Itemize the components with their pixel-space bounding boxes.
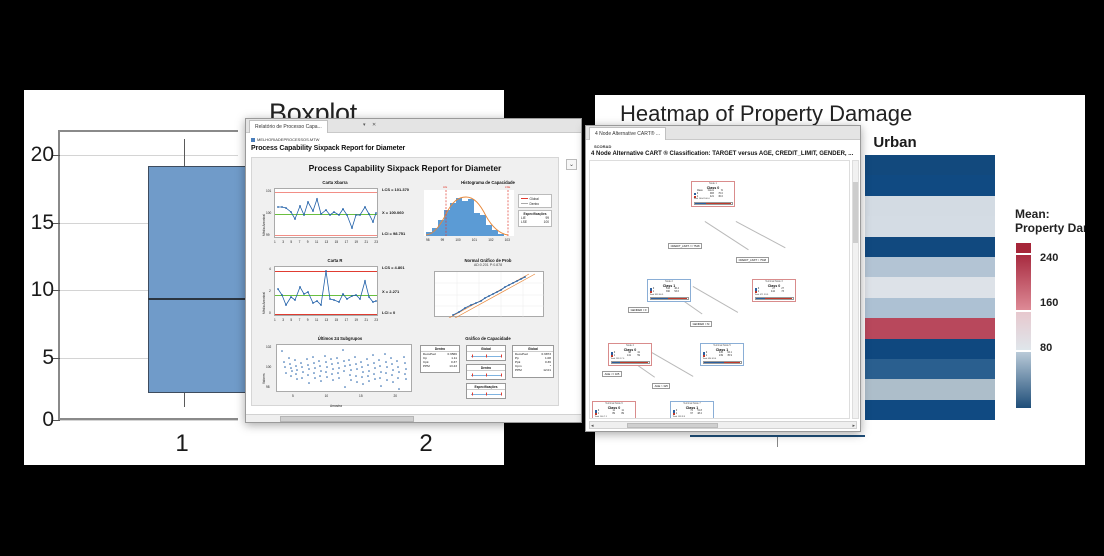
node-bar-blue bbox=[695, 203, 706, 204]
tree-edge bbox=[693, 286, 738, 312]
ylabel-subgroups: Valores bbox=[262, 373, 266, 384]
split-label-credit-limit-gt: CREDIT_LIMIT > 7548 bbox=[736, 257, 769, 263]
sixpack-chart-title: Process Capability Sixpack Report for Di… bbox=[252, 163, 558, 173]
tree-node-7[interactable]: Terminal Node 7 Class 1 0 72 51.8 1 67 bbox=[670, 401, 714, 419]
split-label-age-le: AGE <= 325 bbox=[602, 371, 622, 377]
strip-mark-left bbox=[472, 355, 473, 358]
colorbar-tick-160: 160 bbox=[1040, 297, 1058, 309]
xtick: 23 bbox=[374, 240, 378, 244]
median-line bbox=[148, 298, 258, 300]
xtick: 7 bbox=[299, 240, 301, 244]
node-bar-red bbox=[765, 298, 792, 299]
chevron-down-icon[interactable]: ▾ bbox=[363, 121, 366, 130]
spec-row-lse: LSE 100 bbox=[519, 220, 551, 224]
node-bar bbox=[755, 297, 794, 300]
xtick: 20 bbox=[393, 394, 397, 398]
node-class-label: Class 1 bbox=[673, 406, 712, 410]
node-bar-red bbox=[668, 298, 688, 299]
ytick-mark-15 bbox=[53, 223, 60, 224]
tree-node-root[interactable]: Node 1 Class 0 Class Count % 0 983 bbox=[691, 181, 735, 207]
tree-node-4[interactable]: Node 4 Class 0 0 98 41 1 141 bbox=[608, 343, 652, 366]
capability-strip-line bbox=[467, 371, 505, 379]
split-label-credit-limit-le: CREDIT_LIMIT <= 7548 bbox=[668, 243, 702, 249]
stats-box-within: Dentro DesvPad 0.9566 Cp 1.11 Cpk 0.37 bbox=[420, 345, 460, 373]
ytick-r-0: 0 bbox=[269, 311, 271, 315]
xtick: 11 bbox=[315, 240, 318, 244]
panel-subtitle-normplot: AD:0.201 P:0.878 bbox=[418, 263, 558, 267]
worksheet-file-line: MELHORIADEPROCESSOS.MTW bbox=[251, 137, 319, 142]
capability-strip-line bbox=[467, 390, 505, 398]
panel-capability-plot: Gráfico de Capacidade Dentro DesvPad 0.9… bbox=[418, 336, 558, 414]
xtick: 1 bbox=[274, 318, 276, 322]
node-bar bbox=[703, 361, 742, 364]
split-label-age-gt: AGE > 325 bbox=[652, 383, 670, 389]
heatmap-row bbox=[865, 400, 995, 420]
xtick: 10 bbox=[325, 394, 329, 398]
xticks-xbar: 1 3 5 7 9 11 13 15 17 19 21 23 bbox=[274, 240, 378, 244]
strip-mark-mid bbox=[486, 374, 487, 377]
cart-tree-canvas: Node 1 Class 0 Class Count % 0 983 bbox=[589, 160, 850, 419]
heatmap-row bbox=[865, 237, 995, 257]
cart-vertical-scrollbar[interactable] bbox=[852, 160, 859, 419]
limit-label-center-rchart: X = 2.271 bbox=[382, 289, 399, 294]
rchart-series bbox=[275, 267, 379, 317]
colorbar-segment bbox=[1016, 243, 1031, 253]
scrollbar-thumb[interactable] bbox=[280, 416, 414, 422]
chevron-left-icon[interactable]: ◂ bbox=[591, 423, 594, 429]
legend-swatch-global bbox=[521, 198, 528, 199]
limit-label-ucl-xbar: LCS = 101.370 bbox=[382, 187, 409, 192]
boxplot-chart-area: 20 15 10 5 0 bbox=[58, 130, 238, 420]
scrollbar-thumb[interactable] bbox=[627, 423, 717, 428]
node-bar-label: Total 471 33.5 bbox=[755, 294, 794, 296]
xtick: 23 bbox=[374, 318, 378, 322]
limit-label-ucl-rchart: LCS = 4.801 bbox=[382, 265, 405, 270]
legend-entry-within: Dentro bbox=[519, 201, 551, 206]
ytick-xbar-100: 100 bbox=[266, 211, 271, 215]
strip-mark-mid bbox=[486, 355, 487, 358]
tree-node-6[interactable]: Terminal Node 6 Class 0 0 11 11 1 89 bbox=[592, 401, 636, 419]
xtick: 102 bbox=[488, 238, 493, 242]
node-bar-label: Total 139 9.9 bbox=[673, 416, 712, 418]
node-bar-label: Total 694 49.4 bbox=[703, 358, 742, 360]
panel-title-xbar: Carta Xbarra bbox=[260, 180, 410, 185]
cart-horizontal-scrollbar[interactable]: ◂ ▸ bbox=[589, 421, 857, 429]
xaxis-label-1: 1 bbox=[175, 430, 188, 458]
ytick-label-15: 15 bbox=[31, 211, 54, 235]
legend-swatch-within bbox=[521, 203, 528, 204]
heatmap-row bbox=[865, 257, 995, 277]
heatmap-row bbox=[865, 339, 995, 359]
plot-histogram: LIE LSE bbox=[424, 190, 514, 236]
row-pct: 73 bbox=[776, 291, 784, 294]
node-bar-red bbox=[620, 362, 648, 363]
colorbar-segment bbox=[1016, 255, 1031, 310]
node-bar-label: Total 100 7.1 bbox=[595, 416, 634, 418]
tree-edge bbox=[736, 221, 786, 248]
node-class-label: Class 0 bbox=[611, 348, 650, 352]
xtick: 21 bbox=[364, 318, 368, 322]
heatmap-row bbox=[865, 196, 995, 216]
box-category-1 bbox=[148, 166, 258, 393]
spec-legend-box: Especificações LIE 99 LSE 100 bbox=[518, 210, 552, 227]
colorbar-segment bbox=[1016, 352, 1031, 408]
panel-normal-prob-plot: Normal Gráfico de Prob AD:0.201 P:0.878 bbox=[418, 258, 558, 332]
ytick-label-20: 20 bbox=[31, 143, 54, 167]
xtick: 13 bbox=[325, 240, 329, 244]
xtick: 21 bbox=[364, 240, 368, 244]
tree-node-5[interactable]: Terminal Node 5 Class 1 0 445 64.1 1 249 bbox=[700, 343, 744, 366]
row-pct: 59 bbox=[632, 355, 640, 358]
xtick: 15 bbox=[335, 318, 339, 322]
panel-last-subgroups: Últimos 24 Subgrupos Valores 102 100 98 bbox=[260, 336, 420, 414]
node-bar-label: Total 933 66.5 bbox=[650, 294, 689, 296]
xtick: 3 bbox=[282, 318, 284, 322]
split-label-gender-f: GENDER = F bbox=[628, 307, 649, 313]
stat-value: 12.01 bbox=[543, 368, 551, 372]
node-bar-label: Total 1404 100.0 bbox=[694, 198, 733, 200]
legend-label-within: Dentro bbox=[530, 202, 540, 206]
xtick: 1 bbox=[274, 240, 276, 244]
heatmap-title: Heatmap of Property Damage bbox=[620, 101, 912, 127]
heatmap-row bbox=[865, 175, 995, 195]
xtick: 3 bbox=[282, 240, 284, 244]
spec-mark-lie: LIE bbox=[443, 185, 447, 189]
ylabel-rchart: Média Amostral bbox=[262, 292, 266, 314]
stats-row: PPM 13.43 bbox=[421, 364, 459, 368]
worksheet-file-name: MELHORIADEPROCESSOS.MTW bbox=[257, 137, 319, 142]
strip-mark-right bbox=[501, 393, 502, 396]
xbar-series bbox=[275, 189, 379, 239]
split-label-gender-m: GENDER = M bbox=[690, 321, 712, 327]
sixpack-horizontal-scrollbar[interactable] bbox=[246, 414, 581, 422]
ytick-mark-5 bbox=[53, 358, 60, 359]
ytick-r-4: 4 bbox=[269, 267, 271, 271]
limit-label-center-xbar: X = 100.060 bbox=[382, 210, 404, 215]
report-heading: Process Capability Sixpack Report for Di… bbox=[251, 145, 405, 152]
capability-strip-line bbox=[467, 352, 505, 360]
ytick-xbar-99: 99 bbox=[266, 233, 270, 237]
heatmap-row bbox=[865, 359, 995, 379]
tree-edge bbox=[705, 221, 749, 250]
tab-process-capability-report[interactable]: Relatório de Processo Capa... bbox=[249, 120, 328, 133]
plot-rchart bbox=[274, 266, 378, 316]
panel-title-subgroups: Últimos 24 Subgrupos bbox=[260, 336, 420, 341]
ytick-label-5: 5 bbox=[42, 346, 54, 370]
ytick-label-0: 0 bbox=[42, 408, 54, 432]
heatmap-row bbox=[865, 277, 995, 297]
xtick: 17 bbox=[345, 240, 349, 244]
gridline-20 bbox=[60, 155, 238, 156]
whisker-upper bbox=[184, 139, 185, 166]
xtick: 5 bbox=[290, 318, 292, 322]
panel-capability-histogram: Histograma de Capacidade bbox=[418, 180, 558, 252]
xtick: 19 bbox=[355, 240, 359, 244]
panel-title-rchart: Carta R bbox=[260, 258, 410, 263]
node-bar-blue bbox=[704, 362, 725, 363]
heatmap-row bbox=[865, 318, 995, 338]
cart-classification-window[interactable]: 4 Node Alternative CART® ... SCORAD 4 No… bbox=[585, 125, 861, 432]
sixpack-tabbar: Relatório de Processo Capa... ▾ ✕ bbox=[246, 119, 581, 133]
stats-row: PPM 12.01 bbox=[513, 368, 553, 372]
xtick: 98 bbox=[426, 238, 430, 242]
plot-subgroups bbox=[276, 344, 412, 392]
spec-row-label: LSE bbox=[521, 220, 527, 224]
xtick: 5 bbox=[292, 394, 294, 398]
strip-mark-right bbox=[501, 374, 502, 377]
cart-body: SCORAD 4 Node Alternative CART ® Classif… bbox=[586, 140, 860, 431]
close-icon[interactable]: ✕ bbox=[372, 121, 376, 130]
heatmap-row bbox=[865, 379, 995, 399]
row-pct: 35.9 bbox=[724, 355, 732, 358]
xtick: 13 bbox=[325, 318, 329, 322]
node-class-label: Class 0 bbox=[755, 284, 794, 288]
legend-title-line1: Mean: bbox=[1015, 207, 1085, 221]
node-bar-red bbox=[706, 203, 732, 204]
xaxis-label-2: 2 bbox=[419, 430, 432, 458]
colorbar-tick-240: 240 bbox=[1040, 252, 1058, 264]
subgroup-scatter-series bbox=[277, 345, 413, 393]
cart-heading: 4 Node Alternative CART ® Classification… bbox=[591, 151, 853, 157]
stat-value: 13.43 bbox=[449, 364, 457, 368]
xtick: 101 bbox=[472, 238, 477, 242]
legend-title-line2: Property Dam... bbox=[1015, 221, 1085, 235]
ytick-label-10: 10 bbox=[31, 278, 54, 302]
histogram-legend: Global Dentro bbox=[518, 194, 552, 208]
xtick: 100 bbox=[455, 238, 460, 242]
legend-label-global: Global bbox=[530, 197, 539, 201]
tree-edge bbox=[650, 351, 694, 376]
xticks-subgroups: 5 10 15 20 bbox=[292, 394, 397, 398]
strip-mark-left bbox=[472, 374, 473, 377]
xtick: 11 bbox=[315, 318, 318, 322]
plot-normplot bbox=[434, 271, 544, 317]
limit-label-lcl-rchart: LCI = 0 bbox=[382, 310, 395, 315]
xtick: 99 bbox=[441, 238, 445, 242]
strip-mark-left bbox=[472, 393, 473, 396]
heatmap-axis-tick bbox=[777, 437, 778, 447]
gridline-0 bbox=[60, 420, 238, 421]
row-pct: 48.2 bbox=[694, 413, 702, 416]
capability-strip-spec: Especificações bbox=[466, 383, 506, 399]
capability-strip-within: Dentro bbox=[466, 364, 506, 380]
scrollbar-thumb[interactable] bbox=[853, 182, 858, 244]
spec-mark-lse: LSE bbox=[505, 185, 510, 189]
node-class-label: Class 1 bbox=[703, 348, 742, 352]
plot-xbar bbox=[274, 188, 378, 238]
ytick-sg-98: 98 bbox=[266, 385, 270, 389]
node-bar-red bbox=[724, 362, 740, 363]
colorbar-tick-80: 80 bbox=[1040, 342, 1052, 354]
node-bar-label: Total 239 17.0 bbox=[611, 358, 650, 360]
panel-xbar-chart: Carta Xbarra Média Amostral 101 100 99 bbox=[260, 180, 410, 250]
sixpack-chart-canvas: Process Capability Sixpack Report for Di… bbox=[251, 157, 559, 406]
tree-node-2[interactable]: Node 2 Class 1 0 543 46.4 1 390 bbox=[647, 279, 691, 302]
node-class-label: Class 1 bbox=[650, 284, 689, 288]
xtick: 9 bbox=[307, 318, 309, 322]
cart-subtitle: SCORAD bbox=[594, 144, 611, 149]
colorbar-segment bbox=[1016, 312, 1031, 350]
ytick-xbar-101: 101 bbox=[266, 189, 271, 193]
xticks-histogram: 98 99 100 101 102 103 bbox=[426, 238, 510, 242]
xtick: 15 bbox=[335, 240, 339, 244]
xtick: 5 bbox=[290, 240, 292, 244]
tree-node-3[interactable]: Terminal Node 3 Class 0 0 27 27 1 444 bbox=[752, 279, 796, 302]
stat-label: PPM bbox=[515, 368, 522, 372]
node-bar-blue bbox=[651, 298, 668, 299]
strip-mark-mid bbox=[486, 393, 487, 396]
node-class-label: Class 0 bbox=[595, 406, 634, 410]
row-count: 67 bbox=[684, 413, 693, 416]
panel-title-capability: Gráfico de Capacidade bbox=[418, 336, 558, 341]
cart-tabbar: 4 Node Alternative CART® ... bbox=[586, 126, 860, 140]
panel-r-chart: Carta R Média Amostral 4 2 0 bbox=[260, 258, 410, 328]
xtick: 7 bbox=[299, 318, 301, 322]
xtick: 17 bbox=[345, 318, 349, 322]
row-count: 89 bbox=[606, 413, 615, 416]
limit-label-lcl-xbar: LCI = 98.751 bbox=[382, 231, 405, 236]
normplot-series bbox=[435, 272, 545, 318]
node-bar bbox=[611, 361, 650, 364]
ytick-mark-20 bbox=[53, 155, 60, 156]
stat-label: PPM bbox=[423, 364, 430, 368]
heatmap-row bbox=[865, 216, 995, 236]
histogram-series bbox=[424, 190, 514, 236]
ytick-mark-0 bbox=[53, 420, 60, 421]
whisker-lower bbox=[184, 393, 185, 407]
heatmap-row bbox=[865, 155, 995, 175]
xtick: 9 bbox=[307, 240, 309, 244]
heatmap-grid bbox=[865, 155, 995, 420]
chevron-right-icon[interactable]: ▸ bbox=[852, 423, 855, 429]
row-pct: 53.6 bbox=[671, 291, 679, 294]
stats-box-overall: Global DesvPad 0.9873 Pp 1.08 Ppk 0.36 bbox=[512, 345, 554, 378]
row-pct: 89 bbox=[616, 413, 624, 416]
collapse-icon[interactable]: ⌄ bbox=[566, 159, 577, 170]
xtick: 19 bbox=[355, 318, 359, 322]
xlabel-subgroups: Amostra bbox=[330, 404, 342, 408]
ytick-r-2: 2 bbox=[269, 289, 271, 293]
capability-strip-global: Global bbox=[466, 345, 506, 361]
colorbar bbox=[1016, 243, 1031, 408]
node-bar-blue bbox=[756, 298, 766, 299]
ytick-mark-10 bbox=[53, 290, 60, 291]
worksheet-icon bbox=[251, 138, 255, 142]
screenshot-stage: Boxplot 20 15 10 5 0 1 bbox=[0, 0, 1104, 556]
heatmap-legend: Mean: Property Dam... bbox=[1015, 207, 1085, 235]
xtick: 103 bbox=[505, 238, 510, 242]
panel-title-histogram: Histograma de Capacidade bbox=[418, 180, 558, 185]
strip-mark-right bbox=[501, 355, 502, 358]
node-bar bbox=[694, 202, 733, 205]
node-bar bbox=[650, 297, 689, 300]
node-bar-blue bbox=[612, 362, 621, 363]
spec-row-value: 100 bbox=[544, 220, 549, 224]
ytick-sg-102: 102 bbox=[266, 345, 271, 349]
tab-cart-classification[interactable]: 4 Node Alternative CART® ... bbox=[589, 127, 666, 140]
row-pct: 30.0 bbox=[715, 196, 723, 199]
xtick: 15 bbox=[359, 394, 363, 398]
xticks-rchart: 1 3 5 7 9 11 13 15 17 19 21 23 bbox=[274, 318, 378, 322]
ytick-sg-100: 100 bbox=[266, 365, 271, 369]
heatmap-row bbox=[865, 298, 995, 318]
sixpack-body: MELHORIADEPROCESSOS.MTW Process Capabili… bbox=[246, 133, 581, 422]
sixpack-report-window[interactable]: Relatório de Processo Capa... ▾ ✕ MELHOR… bbox=[245, 118, 582, 423]
